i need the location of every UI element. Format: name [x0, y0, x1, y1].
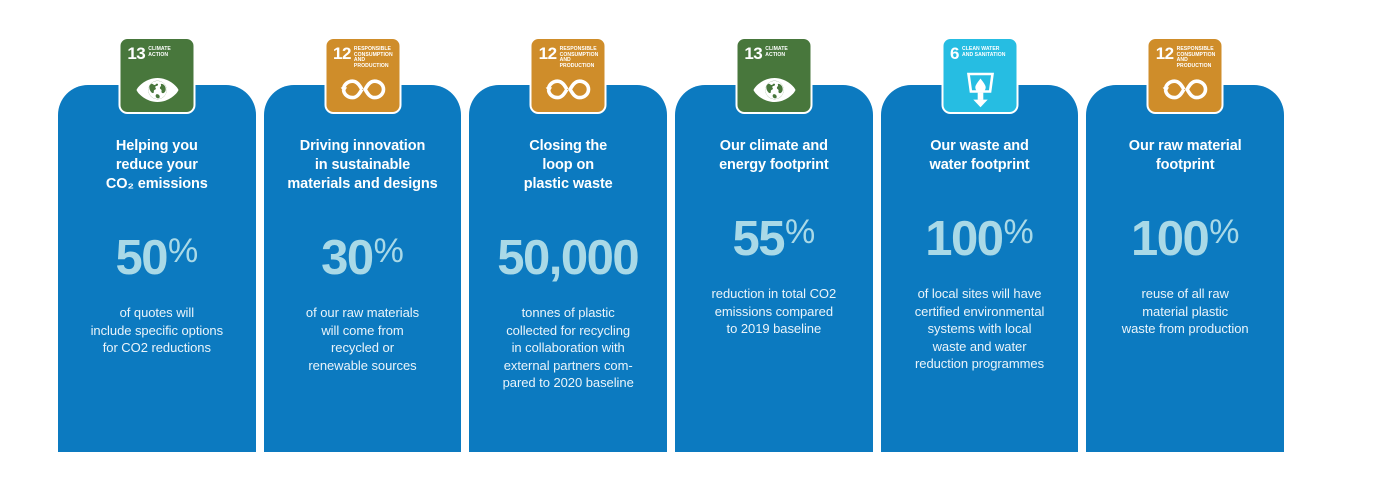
target-card[interactable]: 13CLIMATE ACTIONHelping you reduce your …	[58, 85, 256, 452]
card-stat: 100%	[1131, 213, 1240, 265]
sdg-badge-header: 12RESPONSIBLE CONSUMPTION AND PRODUCTION	[333, 46, 393, 72]
sdg-number: 13	[127, 46, 145, 61]
infinity-arrow-icon	[539, 71, 599, 108]
eye-globe-icon-svg	[752, 77, 796, 103]
stat-suffix: %	[785, 215, 815, 249]
sdg-title: RESPONSIBLE CONSUMPTION AND PRODUCTION	[354, 46, 393, 69]
water-glass-icon-svg	[963, 72, 997, 108]
card-heading: Closing the loop on plastic waste	[524, 137, 613, 194]
infinity-arrow-icon-svg	[546, 76, 592, 103]
infinity-arrow-icon-svg	[1163, 76, 1209, 103]
sdg-badge: 13CLIMATE ACTION	[118, 37, 195, 114]
stat-value: 50	[115, 232, 167, 284]
stat-suffix: %	[1004, 215, 1034, 249]
sustainability-targets-infographic: 13CLIMATE ACTIONHelping you reduce your …	[0, 0, 1391, 500]
eye-globe-icon	[127, 71, 187, 108]
sdg-number: 6	[950, 46, 959, 61]
sdg-title: RESPONSIBLE CONSUMPTION AND PRODUCTION	[1177, 46, 1216, 69]
sdg-number: 13	[744, 46, 762, 61]
target-card[interactable]: 6CLEAN WATER AND SANITATIONOur waste and…	[881, 85, 1079, 452]
sdg-title: RESPONSIBLE CONSUMPTION AND PRODUCTION	[560, 46, 599, 69]
sdg-number: 12	[1156, 46, 1174, 61]
card-stat: 55%	[732, 213, 815, 265]
stat-suffix: %	[374, 234, 404, 268]
card-stat: 50,000	[497, 232, 639, 284]
sdg-number: 12	[539, 46, 557, 61]
card-stat: 30%	[321, 232, 404, 284]
eye-globe-icon	[744, 71, 804, 108]
water-glass-icon	[950, 71, 1010, 108]
target-card[interactable]: 12RESPONSIBLE CONSUMPTION AND PRODUCTION…	[1086, 85, 1284, 452]
sdg-badge: 6CLEAN WATER AND SANITATION	[941, 37, 1018, 114]
sdg-badge-header: 12RESPONSIBLE CONSUMPTION AND PRODUCTION	[539, 46, 599, 72]
stat-value: 100	[1131, 213, 1208, 265]
card-heading: Helping you reduce your CO₂ emissions	[106, 137, 208, 194]
card-caption: tonnes of plastic collected for recyclin…	[503, 304, 634, 392]
sdg-badge: 13CLIMATE ACTION	[735, 37, 812, 114]
eye-globe-icon-svg	[135, 77, 179, 103]
card-caption: of local sites will have certified envir…	[915, 285, 1045, 373]
sdg-badge-header: 12RESPONSIBLE CONSUMPTION AND PRODUCTION	[1156, 46, 1216, 72]
sdg-title: CLEAN WATER AND SANITATION	[962, 46, 1010, 58]
card-heading: Our climate and energy footprint	[719, 137, 829, 175]
card-caption: of our raw materials will come from recy…	[306, 304, 419, 374]
stat-suffix: %	[1209, 215, 1239, 249]
sdg-badge-header: 6CLEAN WATER AND SANITATION	[950, 46, 1010, 72]
sdg-badge: 12RESPONSIBLE CONSUMPTION AND PRODUCTION	[1147, 37, 1224, 114]
card-caption: reuse of all raw material plastic waste …	[1122, 285, 1249, 338]
infinity-arrow-icon	[333, 71, 393, 108]
card-caption: of quotes will include specific options …	[91, 304, 224, 357]
sdg-badge-header: 13CLIMATE ACTION	[744, 46, 804, 72]
sdg-title: CLIMATE ACTION	[148, 46, 187, 58]
card-heading: Our waste and water footprint	[930, 137, 1030, 175]
card-stat: 100%	[925, 213, 1034, 265]
target-card[interactable]: 12RESPONSIBLE CONSUMPTION AND PRODUCTION…	[264, 85, 462, 452]
infinity-arrow-icon	[1156, 71, 1216, 108]
target-card[interactable]: 12RESPONSIBLE CONSUMPTION AND PRODUCTION…	[469, 85, 667, 452]
sdg-badge: 12RESPONSIBLE CONSUMPTION AND PRODUCTION	[530, 37, 607, 114]
target-card[interactable]: 13CLIMATE ACTIONOur climate and energy f…	[675, 85, 873, 452]
card-stat: 50%	[115, 232, 198, 284]
stat-value: 30	[321, 232, 373, 284]
target-cards-row: 13CLIMATE ACTIONHelping you reduce your …	[58, 85, 1284, 452]
sdg-number: 12	[333, 46, 351, 61]
sdg-badge-header: 13CLIMATE ACTION	[127, 46, 187, 72]
stat-value: 100	[925, 213, 1002, 265]
card-heading: Driving innovation in sustainable materi…	[287, 137, 437, 194]
sdg-badge: 12RESPONSIBLE CONSUMPTION AND PRODUCTION	[324, 37, 401, 114]
card-caption: reduction in total CO2 emissions compare…	[712, 285, 837, 338]
stat-value: 55	[732, 213, 784, 265]
infinity-arrow-icon-svg	[340, 76, 386, 103]
stat-value: 50,000	[497, 232, 638, 284]
card-heading: Our raw material footprint	[1129, 137, 1242, 175]
stat-suffix: %	[168, 234, 198, 268]
sdg-title: CLIMATE ACTION	[765, 46, 804, 58]
